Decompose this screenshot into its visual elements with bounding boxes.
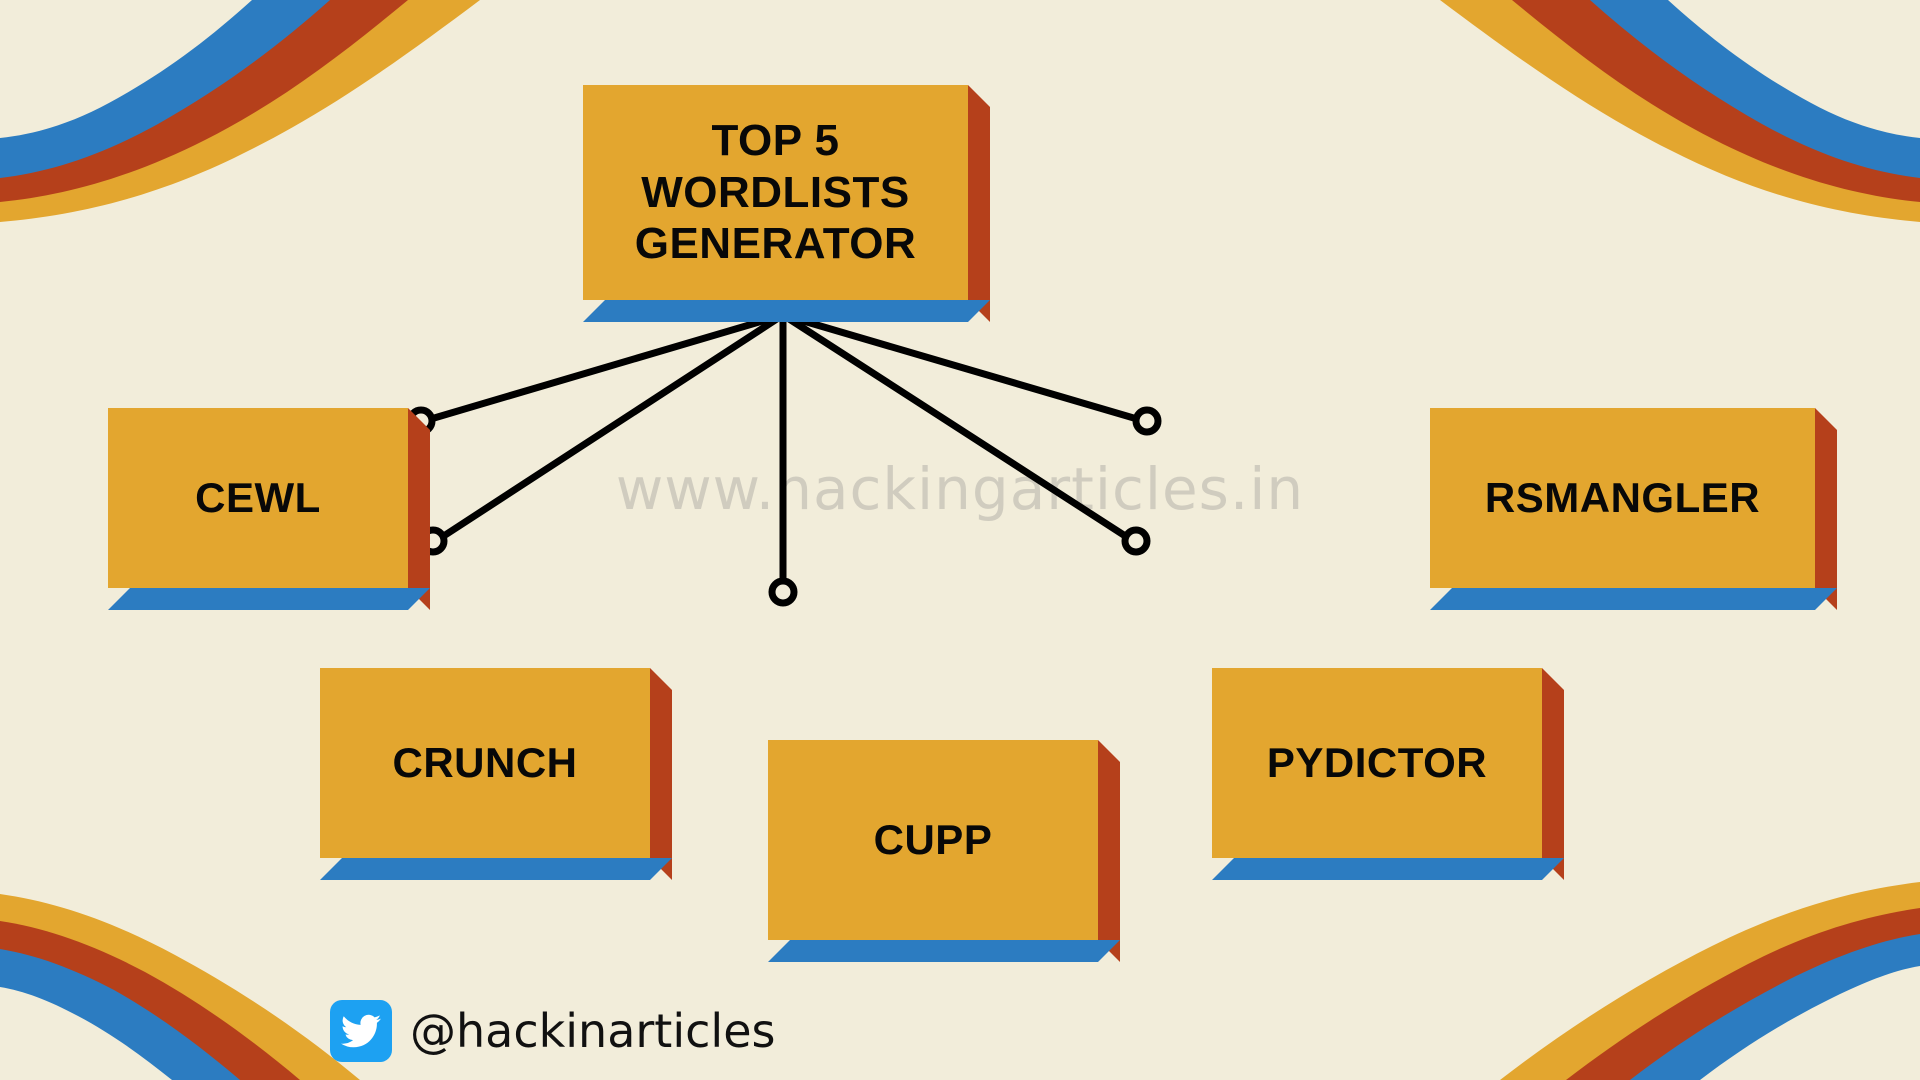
box-side-right <box>1542 668 1564 880</box>
node-crunch[interactable]: CRUNCH <box>320 668 650 858</box>
box-side-right <box>968 85 990 322</box>
node-cupp[interactable]: CUPP <box>768 740 1098 940</box>
node-label: CUPP <box>768 815 1098 865</box>
infographic-canvas: www.hackingarticles.in TOP 5 WORDLISTS <box>0 0 1920 1080</box>
box-side-right <box>1815 408 1837 610</box>
node-label: CRUNCH <box>320 738 650 788</box>
box-side-bottom <box>583 300 990 322</box>
title-line-3: GENERATOR <box>583 218 968 270</box>
node-label: RSMANGLER <box>1430 473 1815 523</box>
node-label: PYDICTOR <box>1212 738 1542 788</box>
node-top-5-wordlists-generator[interactable]: TOP 5 WORDLISTS GENERATOR <box>583 85 968 300</box>
box-side-bottom <box>320 858 672 880</box>
node-cewl[interactable]: CEWL <box>108 408 408 588</box>
twitter-icon[interactable] <box>330 1000 392 1062</box>
social-footer[interactable]: @hackinarticles <box>330 1000 775 1062</box>
node-label: TOP 5 WORDLISTS GENERATOR <box>583 115 968 271</box>
box-side-bottom <box>108 588 430 610</box>
box-side-right <box>408 408 430 610</box>
node-label: CEWL <box>108 473 408 523</box>
node-boxes: TOP 5 WORDLISTS GENERATOR CEWL CRUNCH CU… <box>0 0 1920 1080</box>
box-side-right <box>1098 740 1120 962</box>
twitter-handle[interactable]: @hackinarticles <box>410 1004 775 1058</box>
node-pydictor[interactable]: PYDICTOR <box>1212 668 1542 858</box>
box-side-bottom <box>1430 588 1837 610</box>
box-side-bottom <box>768 940 1120 962</box>
box-side-right <box>650 668 672 880</box>
box-side-bottom <box>1212 858 1564 880</box>
title-line-2: WORDLISTS <box>583 167 968 219</box>
node-rsmangler[interactable]: RSMANGLER <box>1430 408 1815 588</box>
title-line-1: TOP 5 <box>583 115 968 167</box>
